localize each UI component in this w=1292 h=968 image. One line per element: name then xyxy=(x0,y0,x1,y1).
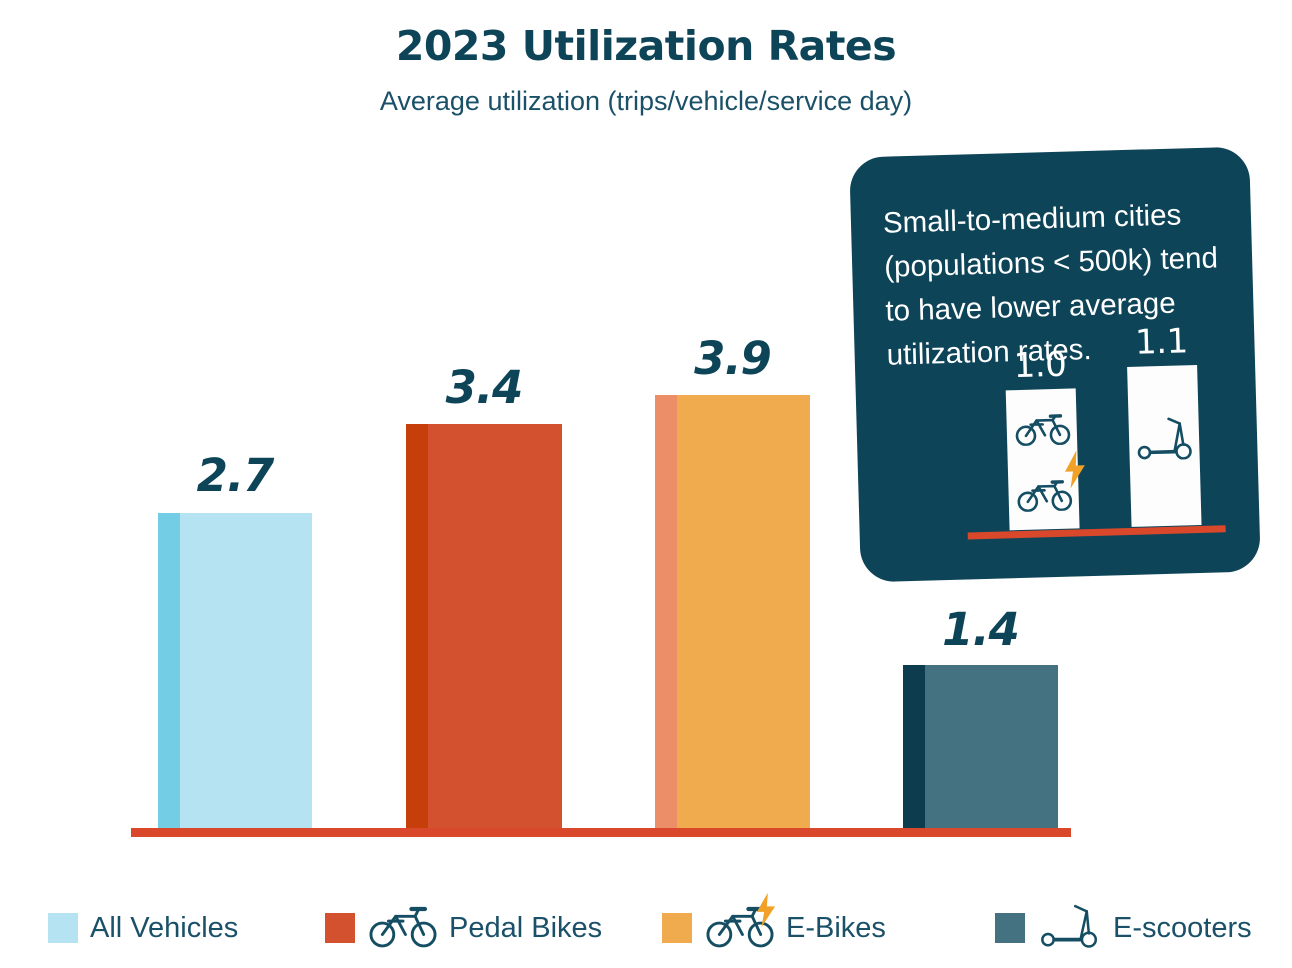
bar-value-e-scooters: 1.4 xyxy=(903,603,1058,656)
legend-swatch-e-bikes xyxy=(662,913,692,943)
legend-label-e-bikes: E-Bikes xyxy=(786,912,886,945)
mini-bar-group-e-scooters: 1.1 xyxy=(1127,365,1201,527)
legend-item-all-vehicles[interactable]: All Vehicles xyxy=(48,900,238,956)
legend-item-e-bikes[interactable]: E-Bikes xyxy=(662,900,886,956)
legend-item-pedal-bikes[interactable]: Pedal Bikes xyxy=(325,900,602,956)
lightning-bolt-icon xyxy=(756,892,776,928)
legend-swatch-e-scooters xyxy=(995,913,1025,943)
mini-bar-value-e-scooters: 1.1 xyxy=(1126,321,1197,363)
bar-value-pedal-bikes: 3.4 xyxy=(406,361,562,414)
bar-value-e-bikes: 3.9 xyxy=(655,332,810,385)
legend-swatch-all-vehicles xyxy=(48,913,78,943)
bar-group-all-vehicles: 2.7 xyxy=(158,511,312,831)
legend: All Vehicles Pedal Bikes xyxy=(0,896,1292,956)
legend-label-pedal-bikes: Pedal Bikes xyxy=(449,912,602,945)
legend-label-e-scooters: E-scooters xyxy=(1113,912,1252,945)
bike-icon xyxy=(369,904,437,953)
legend-item-e-scooters[interactable]: E-scooters xyxy=(995,900,1252,956)
bike-icon xyxy=(1014,411,1071,452)
bar-edge-pedal-bikes xyxy=(406,424,428,831)
bar-group-pedal-bikes: 3.4 xyxy=(406,423,562,831)
ebike-icon xyxy=(706,904,774,953)
mini-bar-value-e-bikes: 1.0 xyxy=(1004,344,1075,386)
scooter-icon xyxy=(1039,904,1101,953)
chart-baseline xyxy=(131,828,1071,837)
bar-group-e-bikes: 3.9 xyxy=(655,394,810,831)
lightning-bolt-icon xyxy=(1063,450,1086,494)
bar-edge-e-bikes xyxy=(655,395,677,831)
scooter-icon xyxy=(1135,415,1194,466)
bar-e-bikes[interactable] xyxy=(655,395,810,831)
bar-e-scooters[interactable] xyxy=(903,665,1058,831)
mini-chart-baseline xyxy=(968,525,1226,539)
bar-pedal-bikes[interactable] xyxy=(406,424,562,831)
mini-bar-group-e-bikes: 1.0 xyxy=(1006,388,1080,530)
bar-edge-e-scooters xyxy=(903,665,925,831)
callout-box: Small-to-medium cities (populations < 50… xyxy=(849,146,1261,582)
bar-value-all-vehicles: 2.7 xyxy=(158,449,312,502)
legend-label-all-vehicles: All Vehicles xyxy=(90,912,238,945)
bar-edge-all-vehicles xyxy=(158,513,180,831)
bar-group-e-scooters: 1.4 xyxy=(903,665,1058,831)
legend-swatch-pedal-bikes xyxy=(325,913,355,943)
bar-all-vehicles[interactable] xyxy=(158,513,312,831)
